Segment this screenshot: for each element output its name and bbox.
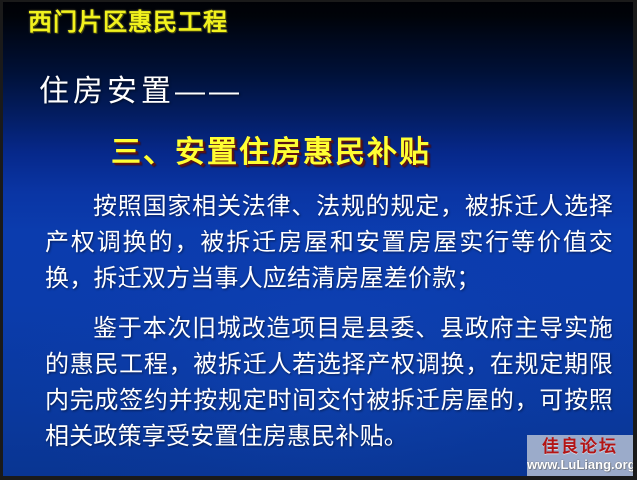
- slide-section-heading: 三、安置住房惠民补贴: [111, 133, 431, 173]
- slide-canvas: 西门片区惠民工程 住房安置—— 三、安置住房惠民补贴 按照国家相关法律、法规的规…: [3, 2, 633, 476]
- slide-screenshot: 西门片区惠民工程 住房安置—— 三、安置住房惠民补贴 按照国家相关法律、法规的规…: [0, 0, 637, 480]
- slide-subtitle: 住房安置——: [39, 73, 243, 111]
- body-paragraph: 鉴于本次旧城改造项目是县委、县政府主导实施的惠民工程，被拆迁人若选择产权调换，在…: [45, 311, 613, 455]
- watermark-logo-text: 佳良论坛: [527, 436, 633, 457]
- slide-body: 按照国家相关法律、法规的规定，被拆迁人选择产权调换的，被拆迁房屋和安置房屋实行等…: [45, 189, 613, 455]
- watermark: 佳良论坛 www.LuLiang.org: [527, 435, 633, 476]
- watermark-url-text: www.LuLiang.org: [527, 457, 633, 473]
- body-paragraph: 按照国家相关法律、法规的规定，被拆迁人选择产权调换的，被拆迁房屋和安置房屋实行等…: [45, 189, 613, 297]
- slide-header-title: 西门片区惠民工程: [28, 8, 228, 38]
